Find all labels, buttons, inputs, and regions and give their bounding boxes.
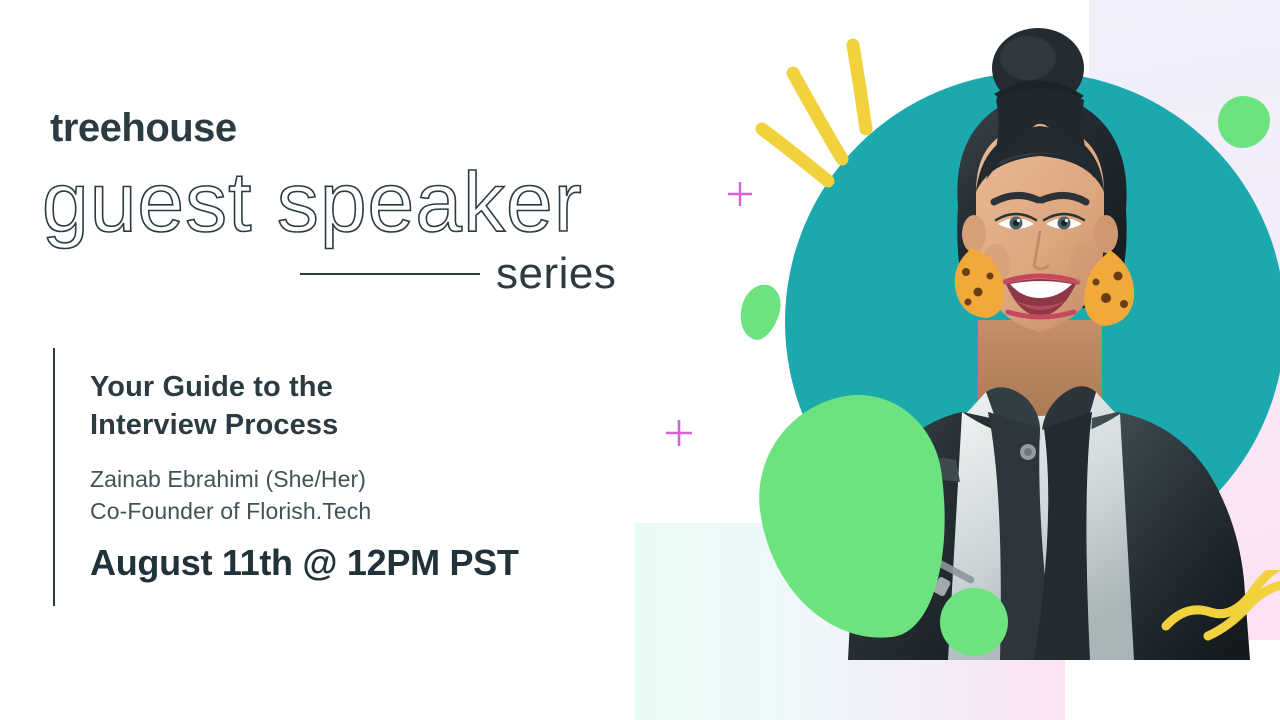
brand-name: treehouse [50,108,237,148]
talk-title-line-1: Your Guide to the [90,368,630,406]
green-blob-small-icon [734,280,786,344]
title-block: treehouse guest speaker series Your Guid… [0,0,660,720]
green-circle-bottom-icon [940,588,1008,656]
speaker-role: Co-Founder of Florish.Tech [90,495,630,527]
plus-mark-icon-1 [726,180,754,208]
sparkle-strokes-icon [750,35,910,225]
talk-title-line-2: Interview Process [90,406,630,444]
talk-title: Your Guide to the Interview Process [90,368,630,445]
talk-datetime: August 11th @ 12PM PST [90,543,630,583]
speaker-name: Zainab Ebrahimi (She/Her) [90,463,630,495]
headline-outline: guest speaker [42,158,583,246]
plus-mark-icon-2 [664,418,694,448]
promo-slide: treehouse guest speaker series Your Guid… [0,0,1280,720]
series-rule-divider [300,273,480,275]
series-row: series [300,252,616,296]
vertical-accent-rule [53,348,55,606]
talk-details: Your Guide to the Interview Process Zain… [90,368,630,583]
squiggle-strokes-icon [1160,570,1280,680]
series-word: series [496,252,616,296]
